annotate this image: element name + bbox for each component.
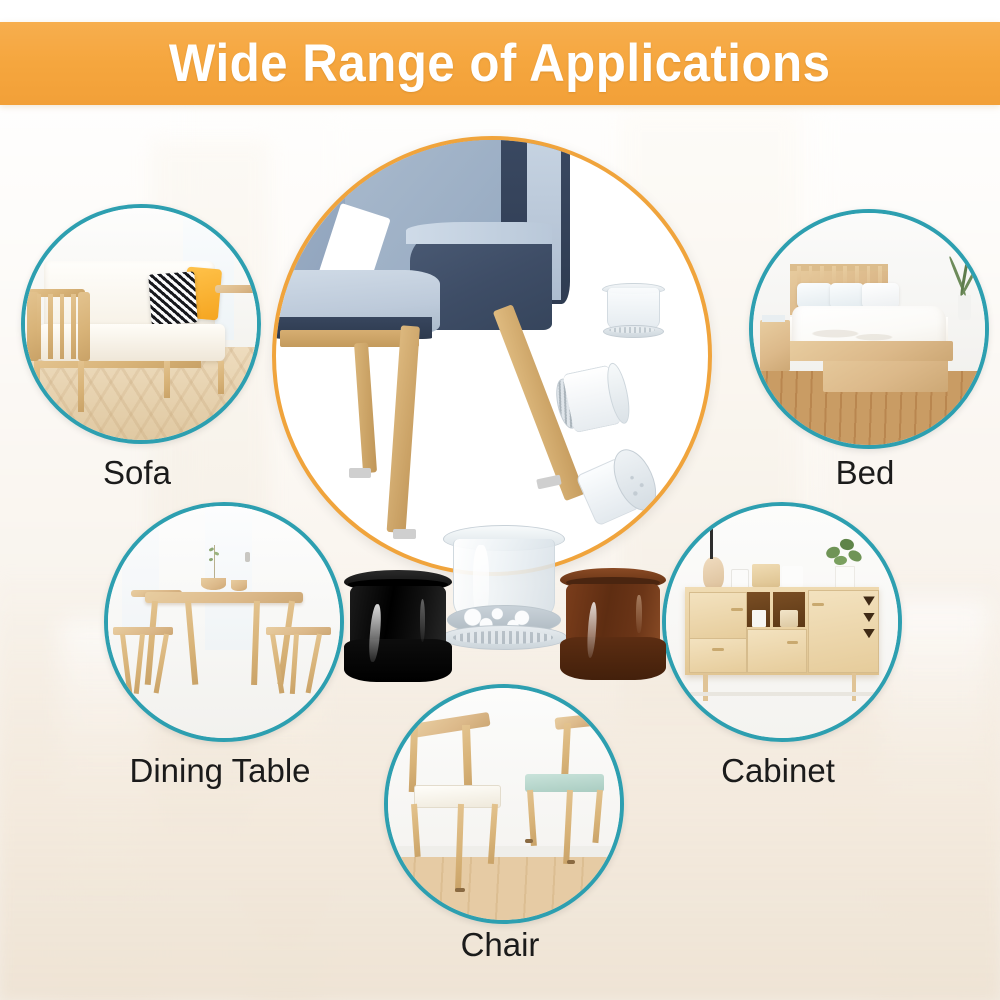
app-label-chair: Chair xyxy=(400,928,600,961)
hero-cap-clear-tilted xyxy=(551,362,631,436)
header-banner: Wide Range of Applications xyxy=(0,22,1000,105)
hero-scene xyxy=(276,140,708,572)
hero-cap-clear-upright xyxy=(602,283,662,341)
app-label-bed: Bed xyxy=(765,456,965,489)
app-label-sofa: Sofa xyxy=(37,456,237,489)
app-circle-sofa xyxy=(21,204,261,444)
page-title: Wide Range of Applications xyxy=(169,37,831,90)
app-circle-chair xyxy=(384,684,624,924)
app-circle-bed xyxy=(749,209,989,449)
app-circle-dining-table xyxy=(104,502,344,742)
app-label-cabinet: Cabinet xyxy=(678,754,878,787)
hero-cap-clear-angled xyxy=(573,444,662,529)
product-cap-clear xyxy=(441,525,565,650)
product-cap-brown xyxy=(560,568,666,680)
app-label-dining-table: Dining Table xyxy=(120,754,320,787)
product-cap-black xyxy=(344,570,452,682)
app-circle-cabinet xyxy=(662,502,902,742)
application-showcase-image: Wide Range of Applications xyxy=(0,0,1000,1000)
